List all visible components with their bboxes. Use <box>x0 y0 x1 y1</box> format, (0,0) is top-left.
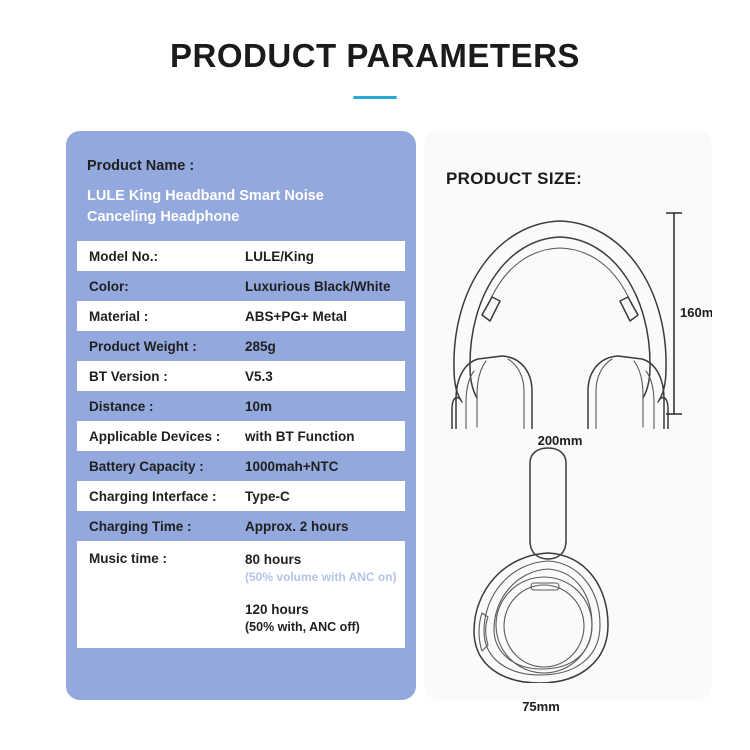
row-value: 10m <box>245 399 272 414</box>
music-time-values: 80 hours (50% volume with ANC on) 120 ho… <box>245 551 397 636</box>
table-row: Color: Luxurious Black/White <box>77 271 405 301</box>
row-label: Material : <box>89 309 245 324</box>
table-row: Battery Capacity : 1000mah+NTC <box>77 451 405 481</box>
table-row: BT Version : V5.3 <box>77 361 405 391</box>
page-title: PRODUCT PARAMETERS <box>0 38 750 74</box>
row-value: Approx. 2 hours <box>245 519 349 534</box>
row-value: LULE/King <box>245 249 314 264</box>
product-parameters-page: PRODUCT PARAMETERS Product Name : LULE K… <box>0 0 750 750</box>
music-time-anc-on-value: 80 hours <box>245 551 397 569</box>
row-label: Music time : <box>89 551 245 566</box>
title-accent-rule <box>353 96 397 99</box>
music-time-spacer <box>245 586 397 601</box>
table-row: Applicable Devices : with BT Function <box>77 421 405 451</box>
front-height-label: 160mm <box>680 305 712 320</box>
spec-rows: Model No.: LULE/King Color: Luxurious Bl… <box>67 241 415 658</box>
headphone-side-view-illustration <box>452 443 652 688</box>
table-row: Material : ABS+PG+ Metal <box>77 301 405 331</box>
row-value: Luxurious Black/White <box>245 279 391 294</box>
product-name-value: LULE King Headband Smart Noise Canceling… <box>87 186 387 227</box>
product-name-label: Product Name : <box>87 158 415 174</box>
row-label: Product Weight : <box>89 339 245 354</box>
row-value: Type-C <box>245 489 290 504</box>
table-row: Charging Time : Approx. 2 hours <box>77 511 405 541</box>
page-header: PRODUCT PARAMETERS <box>0 38 750 99</box>
row-value: V5.3 <box>245 369 273 384</box>
row-label: Distance : <box>89 399 245 414</box>
table-row: Product Weight : 285g <box>77 331 405 361</box>
side-width-label: 75mm <box>522 699 560 714</box>
row-label: Battery Capacity : <box>89 459 245 474</box>
table-row: Charging Interface : Type-C <box>77 481 405 511</box>
row-label: Charging Time : <box>89 519 245 534</box>
row-label: Charging Interface : <box>89 489 245 504</box>
row-value: ABS+PG+ Metal <box>245 309 347 324</box>
front-view-height-dimension: 160mm <box>664 199 712 499</box>
spec-card: Product Name : LULE King Headband Smart … <box>66 131 416 700</box>
music-time-anc-off-note: (50% with, ANC off) <box>245 619 397 636</box>
row-label: Applicable Devices : <box>89 429 245 444</box>
row-value: 285g <box>245 339 276 354</box>
product-size-panel: PRODUCT SIZE: <box>424 131 712 700</box>
music-time-anc-off-value: 120 hours <box>245 601 397 619</box>
row-value: 1000mah+NTC <box>245 459 338 474</box>
spec-card-header: Product Name : LULE King Headband Smart … <box>67 132 415 241</box>
side-view-width-dimension: 75mm <box>452 697 652 721</box>
product-size-title: PRODUCT SIZE: <box>446 169 582 189</box>
row-label: Model No.: <box>89 249 245 264</box>
table-row: Model No.: LULE/King <box>77 241 405 271</box>
table-row-music-time: Music time : 80 hours (50% volume with A… <box>77 541 405 648</box>
table-row: Distance : 10m <box>77 391 405 421</box>
row-value: with BT Function <box>245 429 354 444</box>
music-time-anc-on-note: (50% volume with ANC on) <box>245 569 397 585</box>
row-label: Color: <box>89 279 245 294</box>
row-label: BT Version : <box>89 369 245 384</box>
